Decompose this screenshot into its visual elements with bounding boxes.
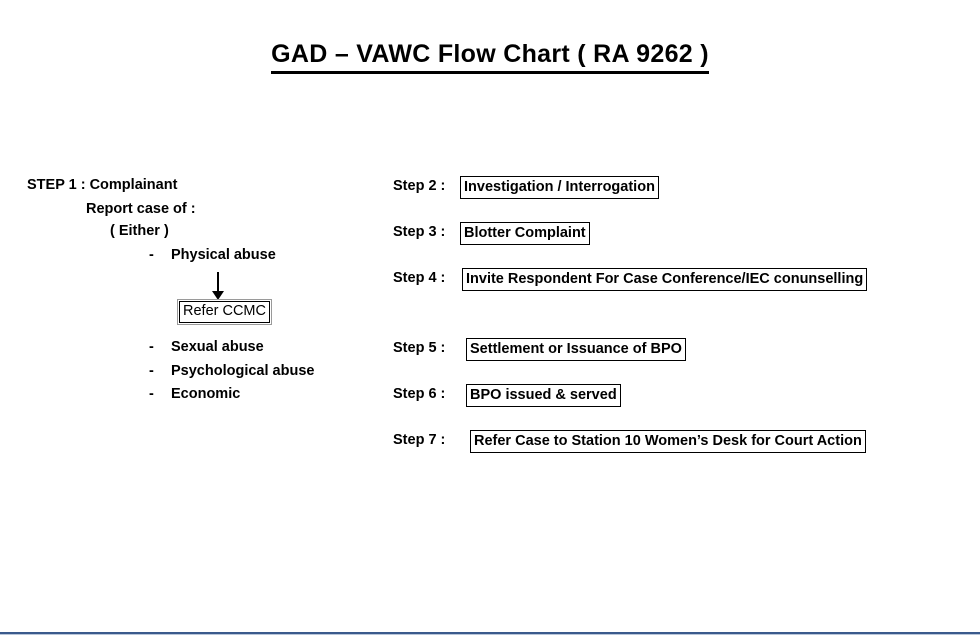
step-1-label: STEP 1 : Complainant — [27, 178, 177, 194]
step-3-label: Step 3 : — [393, 225, 445, 241]
step-5-label: Step 5 : — [393, 341, 445, 357]
bullet-dash-icon: - — [149, 248, 171, 264]
list-item-label: Economic — [171, 386, 240, 402]
bullet-dash-icon: - — [149, 364, 171, 380]
arrow-shaft — [217, 272, 219, 293]
bottom-divider-shadow — [0, 634, 980, 635]
step-4-label: Step 4 : — [393, 271, 445, 287]
report-case-of-label: Report case of : — [86, 202, 196, 218]
refer-ccmc-box: Refer CCMC — [179, 301, 270, 323]
bullet-dash-icon: - — [149, 387, 171, 403]
step-7-label: Step 7 : — [393, 433, 445, 449]
step-2-box: Investigation / Interrogation — [460, 176, 659, 199]
either-label: ( Either ) — [110, 224, 169, 240]
bullet-dash-icon: - — [149, 340, 171, 356]
page-title-text: GAD – VAWC Flow Chart ( RA 9262 ) — [271, 40, 709, 74]
step-5-box: Settlement or Issuance of BPO — [466, 338, 686, 361]
step-6-box: BPO issued & served — [466, 384, 621, 407]
step-3-box: Blotter Complaint — [460, 222, 590, 245]
arrow-down-icon — [211, 272, 225, 300]
slide-canvas: GAD – VAWC Flow Chart ( RA 9262 ) STEP 1… — [0, 0, 980, 639]
step-4-box: Invite Respondent For Case Conference/IE… — [462, 268, 867, 291]
list-item-label: Sexual abuse — [171, 339, 264, 355]
step-7-box: Refer Case to Station 10 Women’s Desk fo… — [470, 430, 866, 453]
list-item-label: Physical abuse — [171, 247, 276, 263]
list-item-sexual-abuse: -Sexual abuse — [149, 340, 264, 356]
arrow-head — [212, 291, 224, 300]
list-item-psychological-abuse: -Psychological abuse — [149, 364, 314, 380]
step-2-label: Step 2 : — [393, 179, 445, 195]
step-6-label: Step 6 : — [393, 387, 445, 403]
list-item-economic: -Economic — [149, 387, 240, 403]
page-title: GAD – VAWC Flow Chart ( RA 9262 ) — [0, 40, 980, 74]
list-item-physical-abuse: -Physical abuse — [149, 248, 276, 264]
list-item-label: Psychological abuse — [171, 363, 314, 379]
